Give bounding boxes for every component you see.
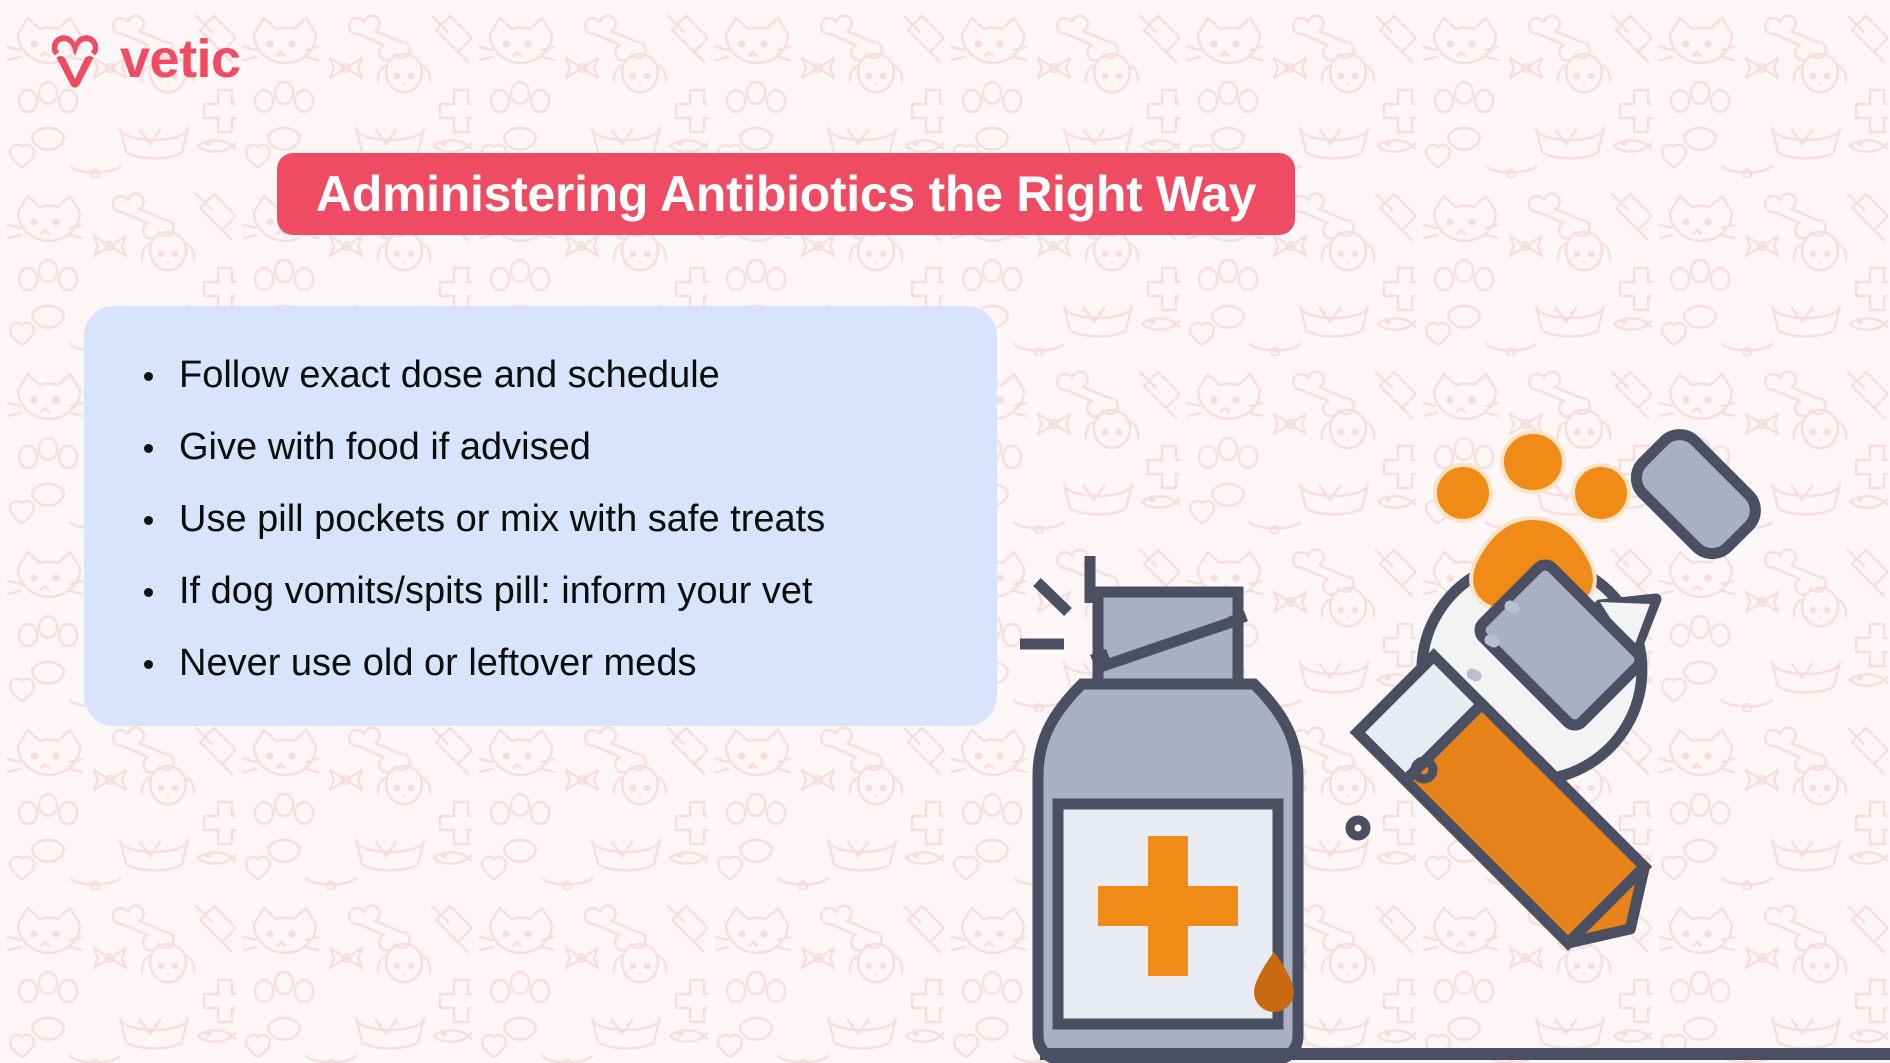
list-item-label: Follow exact dose and schedule [179,355,720,397]
list-item: Never use old or leftover meds [144,628,957,700]
list-item: Use pill pockets or mix with safe treats [144,484,957,556]
list-item: If dog vomits/spits pill: inform your ve… [144,556,957,628]
medicine-illustration [1020,350,1890,1063]
tips-list: Follow exact dose and schedule Give with… [144,340,957,700]
list-item-label: If dog vomits/spits pill: inform your ve… [179,571,813,613]
sparkle-lines-icon [1020,556,1090,644]
bullet-dot-icon [144,516,153,525]
vetic-heart-logo-icon [44,28,106,90]
list-item: Follow exact dose and schedule [144,340,957,412]
bullet-dot-icon [144,588,153,597]
page-title: Administering Antibiotics the Right Way [316,165,1256,223]
brand-logo[interactable]: vetic [44,28,241,90]
bullet-dot-icon [144,444,153,453]
infographic-canvas: vetic Administering Antibiotics the Righ… [0,0,1890,1063]
brand-name: vetic [120,32,241,86]
list-item-label: Give with food if advised [179,427,591,469]
title-banner: Administering Antibiotics the Right Way [277,153,1295,235]
bullet-dot-icon [144,372,153,381]
bullet-dot-icon [144,660,153,669]
list-item-label: Use pill pockets or mix with safe treats [179,499,825,541]
tips-card: Follow exact dose and schedule Give with… [84,306,997,726]
list-item: Give with food if advised [144,412,957,484]
list-item-label: Never use old or leftover meds [179,643,696,685]
